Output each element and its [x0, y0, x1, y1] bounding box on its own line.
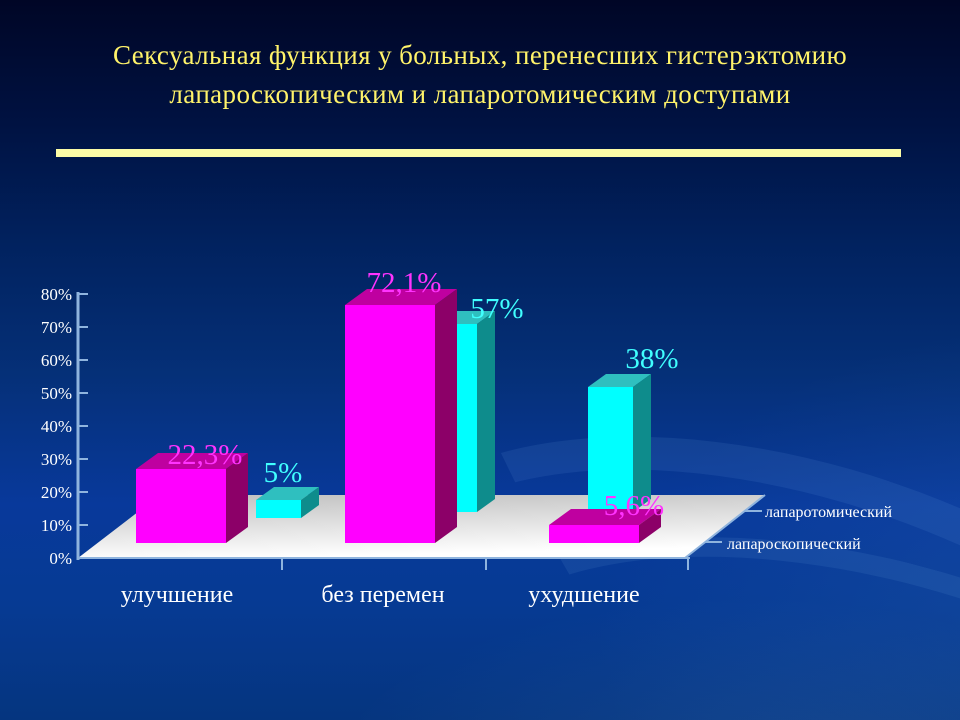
legend-item-laparoscopic: лапароскопический	[727, 536, 861, 553]
y-tick-label-0: 0%	[49, 549, 72, 568]
y-tick-label-30: 30%	[41, 450, 72, 469]
slide-canvas: Сексуальная функция у больных, перенесши…	[0, 0, 960, 720]
y-tick-label-10: 10%	[41, 516, 72, 535]
y-tick-label-20: 20%	[41, 483, 72, 502]
x-category-label-1: без перемен	[321, 582, 444, 608]
y-tick-label-80: 80%	[41, 285, 72, 304]
y-tick-label-60: 60%	[41, 351, 72, 370]
data-label-g0-laparotomic: 5%	[264, 457, 303, 489]
y-tick-label-50: 50%	[41, 384, 72, 403]
y-tick-label-40: 40%	[41, 417, 72, 436]
x-category-label-0: улучшение	[121, 582, 233, 608]
x-category-label-2: ухудшение	[528, 582, 639, 608]
data-label-g1-laparoscopic: 72,1%	[367, 267, 442, 299]
legend-item-laparotomic: лапаротомический	[765, 504, 892, 521]
bar-group-1-series-laparoscopic[interactable]	[345, 289, 457, 543]
data-label-g2-laparoscopic: 5,6%	[604, 490, 664, 522]
data-label-g0-laparoscopic: 22,3%	[168, 439, 243, 471]
y-tick-label-70: 70%	[41, 318, 72, 337]
data-label-g2-laparotomic: 38%	[625, 343, 678, 375]
data-label-g1-laparotomic: 57%	[470, 293, 523, 325]
bar-chart-3d: 80% 70% 60% 50% 40% 30% 20% 10% 0% 5% 22…	[0, 0, 960, 720]
